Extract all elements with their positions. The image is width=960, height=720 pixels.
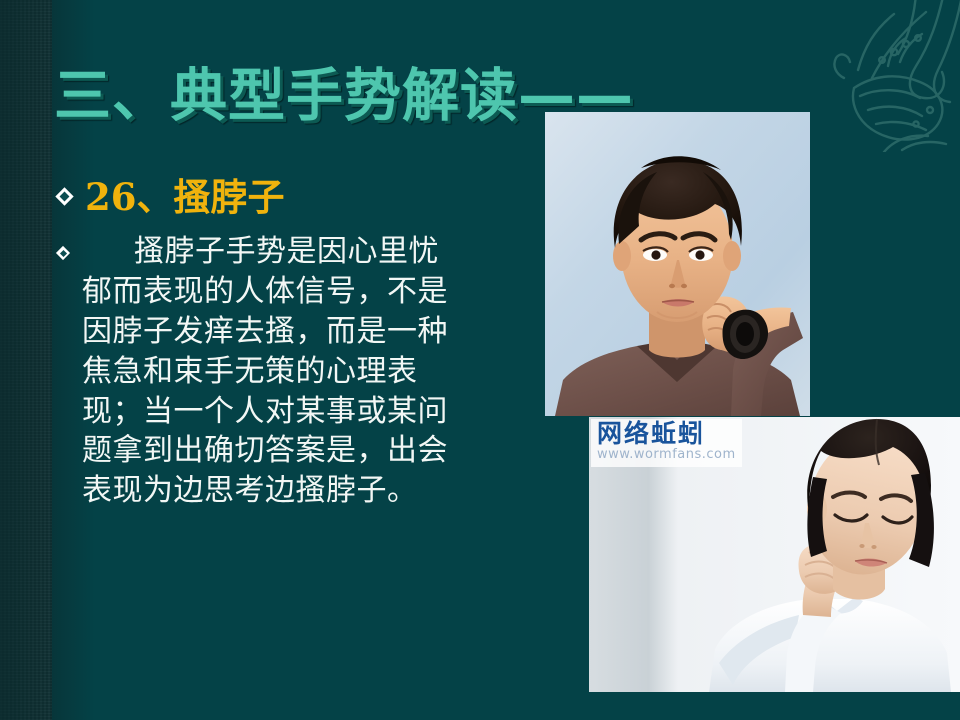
- heading-bullet-row: 26、搔脖子: [58, 178, 285, 217]
- diamond-bullet-icon: [58, 248, 70, 260]
- photo-woman-touching-neck: 网络蚯蚓 www.wormfans.com: [589, 417, 960, 692]
- photo-man-scratching-neck: [545, 112, 810, 416]
- slide-canvas: 三、典型手势解读—— 26、搔脖子 搔脖子手势是因心里忧郁而表现的人体信号，不是…: [0, 0, 960, 720]
- diamond-bullet-icon: [58, 190, 73, 205]
- body-bullet-row: 搔脖子手势是因心里忧郁而表现的人体信号，不是因脖子发痒去搔，而是一种焦急和束手无…: [58, 232, 488, 511]
- watermark-url-text: www.wormfans.com: [597, 447, 736, 463]
- content-heading: 26、搔脖子: [85, 178, 285, 217]
- image-watermark: 网络蚯蚓 www.wormfans.com: [591, 419, 742, 467]
- left-texture-band: [0, 0, 52, 720]
- watermark-chinese-text: 网络蚯蚓: [597, 421, 736, 447]
- content-body: 搔脖子手势是因心里忧郁而表现的人体信号，不是因脖子发痒去搔，而是一种焦急和束手无…: [82, 232, 454, 511]
- phoenix-ornament-icon: [798, 0, 960, 152]
